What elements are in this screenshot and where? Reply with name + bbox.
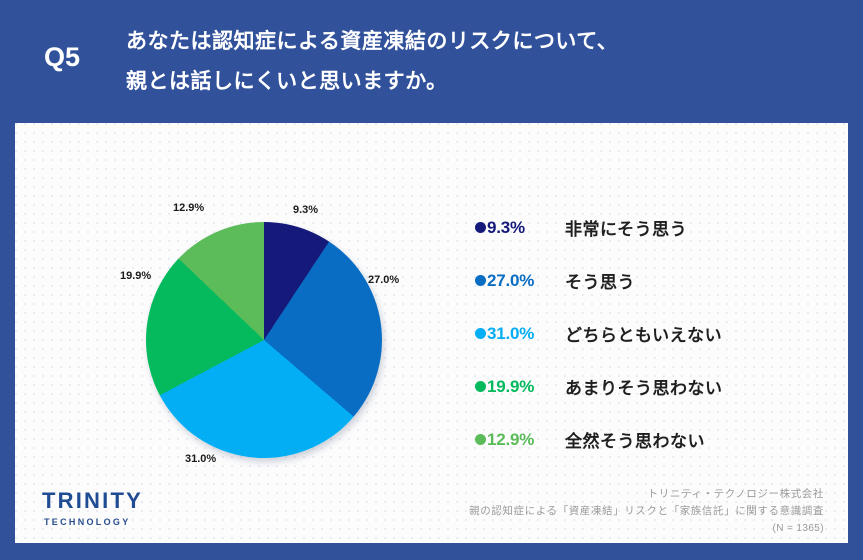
question-title: あなたは認知症による資産凍結のリスクについて、 親とは話しにくいと思いますか。 — [126, 22, 826, 102]
pie-disc — [146, 222, 382, 458]
legend-label: 全然そう思わない — [565, 427, 705, 452]
legend-item-4: 12.9% 全然そう思わない — [475, 413, 835, 466]
legend-bullet-icon — [475, 222, 486, 233]
pie-chart: 9.3% 27.0% 31.0% 19.9% 12.9% — [130, 208, 400, 463]
legend-percent: 12.9% — [487, 430, 565, 450]
legend-item-1: 27.0% そう思う — [475, 254, 835, 307]
legend-percent: 19.9% — [487, 377, 565, 397]
legend-percent: 31.0% — [487, 324, 565, 344]
pie-slice-label-2: 31.0% — [185, 453, 216, 465]
legend-percent: 27.0% — [487, 271, 565, 291]
logo-wordmark: TRINITY — [42, 490, 202, 512]
pie-slice-label-4: 12.9% — [173, 202, 204, 214]
source-note: トリニティ・テクノロジー株式会社 親の認知症による「資産凍結」リスクと「家族信託… — [469, 486, 824, 537]
logo-tagline: TECHNOLOGY — [44, 518, 202, 527]
question-title-line-2: 親とは話しにくいと思いますか。 — [126, 62, 826, 102]
legend-bullet-icon — [475, 434, 486, 445]
question-number: Q5 — [44, 44, 80, 71]
legend-item-2: 31.0% どちらともいえない — [475, 307, 835, 360]
header-banner: Q5 あなたは認知症による資産凍結のリスクについて、 親とは話しにくいと思います… — [0, 0, 863, 123]
content-card: 9.3% 27.0% 31.0% 19.9% 12.9% 9.3% 非常にそう思… — [15, 123, 848, 543]
legend-label: そう思う — [565, 268, 635, 293]
pie-slice-label-1: 27.0% — [368, 274, 399, 286]
pie-slice-label-0: 9.3% — [293, 204, 318, 216]
legend-item-3: 19.9% あまりそう思わない — [475, 360, 835, 413]
legend-bullet-icon — [475, 275, 486, 286]
legend-percent: 9.3% — [487, 218, 565, 238]
pie-slice-label-3: 19.9% — [120, 270, 151, 282]
legend-bullet-icon — [475, 381, 486, 392]
source-survey: 親の認知症による「資産凍結」リスクと「家族信託」に関する意識調査 — [469, 503, 824, 520]
chart-legend: 9.3% 非常にそう思う 27.0% そう思う 31.0% どちらともいえない … — [475, 201, 835, 466]
legend-label: 非常にそう思う — [565, 215, 687, 240]
legend-label: どちらともいえない — [565, 321, 722, 346]
legend-item-0: 9.3% 非常にそう思う — [475, 201, 835, 254]
question-title-line-1: あなたは認知症による資産凍結のリスクについて、 — [126, 22, 826, 62]
trinity-logo: TRINITY TECHNOLOGY — [42, 490, 202, 527]
legend-label: あまりそう思わない — [565, 374, 723, 399]
source-sample-size: (N = 1365) — [469, 520, 824, 537]
source-company: トリニティ・テクノロジー株式会社 — [469, 486, 824, 503]
legend-bullet-icon — [475, 328, 486, 339]
